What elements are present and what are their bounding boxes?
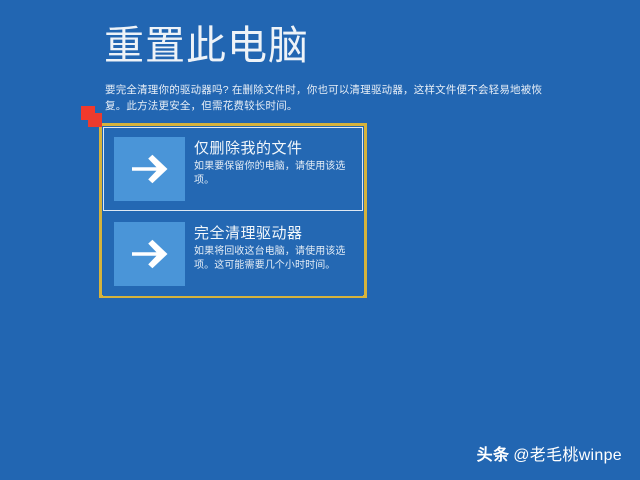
arrow-right-icon [114,137,185,201]
arrow-right-icon [114,222,185,286]
page-title: 重置此电脑 [104,22,309,70]
cursor-marker-square-back [81,106,95,120]
option-text-block: 仅删除我的文件 如果要保留你的电脑，请使用该选项。 [185,128,362,210]
option-description: 如果将回收这台电脑，请使用该选项。这可能需要几个小时时间。 [194,245,352,273]
options-group: 仅删除我的文件 如果要保留你的电脑，请使用该选项。 完全清理驱动器 如果将回收这… [99,123,367,298]
page-description: 要完全清理你的驱动器吗? 在删除文件时，你也可以清理驱动器，这样文件便不会轻易地… [105,82,545,114]
watermark-brand: 头条 [477,446,510,466]
reset-pc-screen: 重置此电脑 要完全清理你的驱动器吗? 在删除文件时，你也可以清理驱动器，这样文件… [0,0,640,480]
option-title: 仅删除我的文件 [194,139,352,158]
option-fully-clean-drive[interactable]: 完全清理驱动器 如果将回收这台电脑，请使用该选项。这可能需要几个小时时间。 [103,212,363,296]
option-text-block: 完全清理驱动器 如果将回收这台电脑，请使用该选项。这可能需要几个小时时间。 [185,213,362,295]
watermark: 头条 @老毛桃winpe [477,446,622,466]
watermark-handle: @老毛桃winpe [513,446,622,466]
option-description: 如果要保留你的电脑，请使用该选项。 [194,160,352,188]
option-delete-files-only[interactable]: 仅删除我的文件 如果要保留你的电脑，请使用该选项。 [103,127,363,211]
option-title: 完全清理驱动器 [194,224,352,243]
